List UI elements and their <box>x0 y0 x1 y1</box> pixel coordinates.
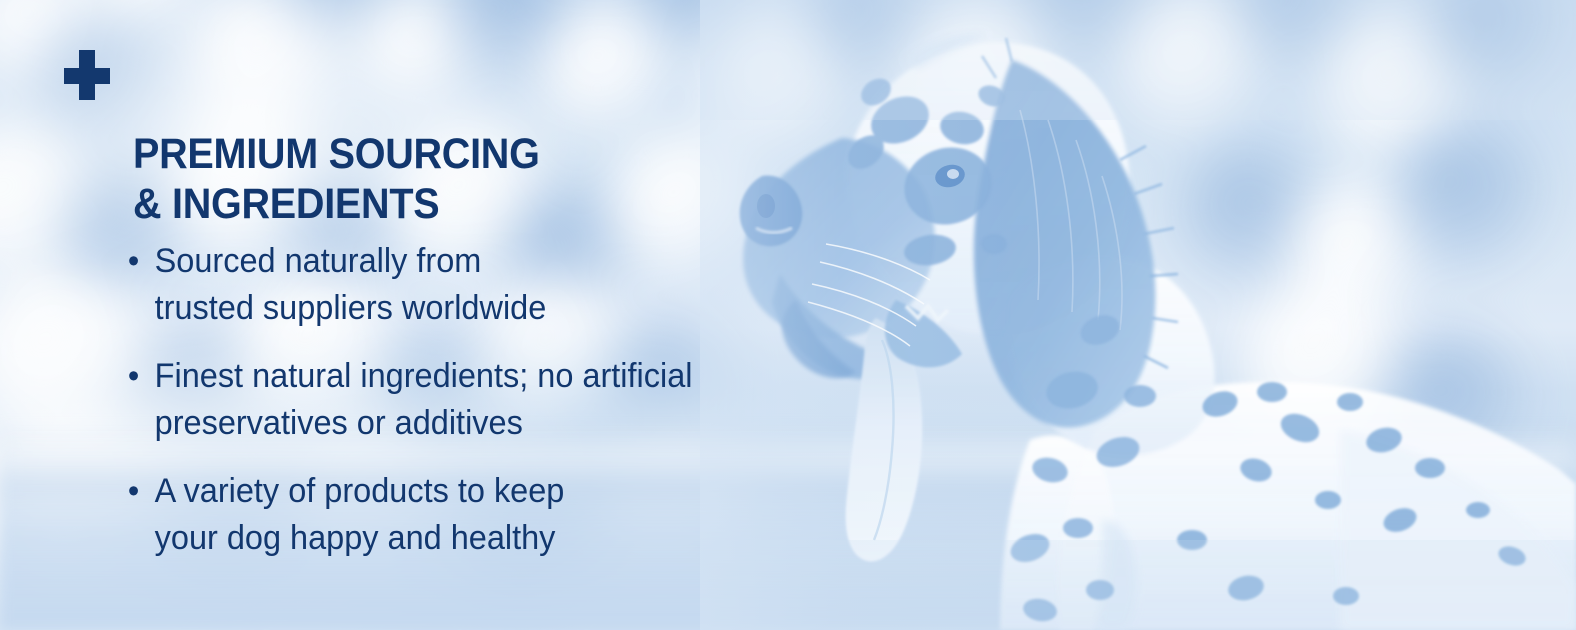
dalmatian-dog-image <box>700 0 1576 630</box>
headline-line-1: PREMIUM SOURCING <box>133 130 540 178</box>
list-item-line-1: Sourced naturally from <box>155 238 776 285</box>
bullet-marker-icon: • <box>128 238 139 285</box>
promo-banner: PREMIUM SOURCING & INGREDIENTS • Sourced… <box>0 0 1576 630</box>
list-item-line-1: A variety of products to keep <box>155 468 776 515</box>
plus-icon <box>64 50 110 100</box>
list-item-line-2: your dog happy and healthy <box>155 515 776 562</box>
list-item-line-2: preservatives or additives <box>155 400 776 447</box>
bullet-marker-icon: • <box>128 353 139 400</box>
list-item: • Finest natural ingredients; no artific… <box>126 353 775 447</box>
list-item-line-2: trusted suppliers worldwide <box>155 285 776 332</box>
feature-list: • Sourced naturally from trusted supplie… <box>126 238 806 583</box>
headline-line-2: & INGREDIENTS <box>133 179 703 229</box>
page-title: PREMIUM SOURCING & INGREDIENTS <box>133 129 703 229</box>
banner-content: PREMIUM SOURCING & INGREDIENTS • Sourced… <box>0 0 800 630</box>
list-item: • A variety of products to keep your dog… <box>126 468 775 562</box>
list-item-line-1: Finest natural ingredients; no artificia… <box>155 353 776 400</box>
list-item: • Sourced naturally from trusted supplie… <box>126 238 775 332</box>
bullet-marker-icon: • <box>128 468 139 515</box>
